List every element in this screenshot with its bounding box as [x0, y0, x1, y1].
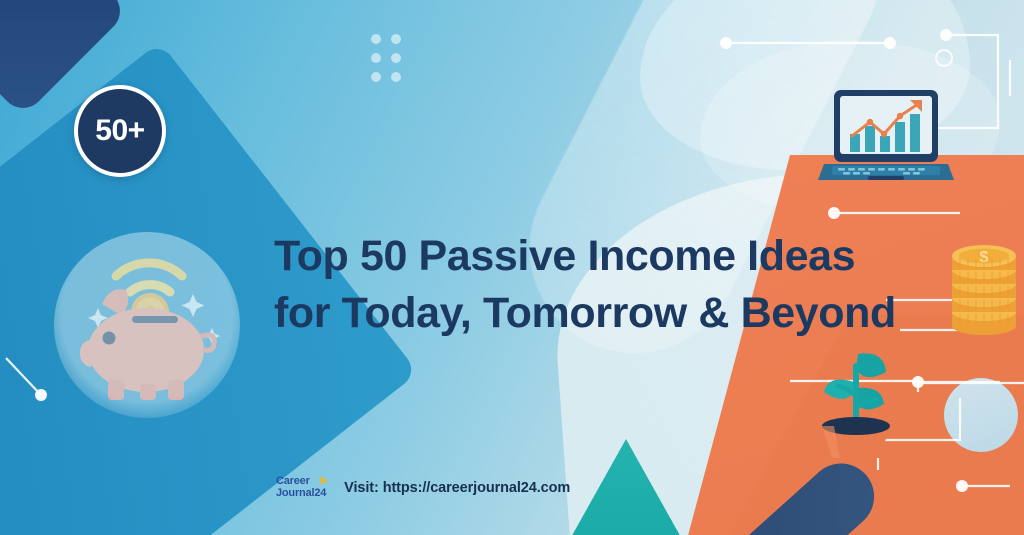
banner-footer: Career Journal24 Visit: https://careerjo…	[276, 476, 570, 499]
logo-line-2: Journal24	[276, 488, 326, 500]
grid-dot	[371, 34, 381, 44]
site-logo[interactable]: Career Journal24	[276, 476, 326, 499]
passive-income-banner: 50+ $	[0, 0, 1024, 535]
coin-stack-icon: $	[948, 234, 1020, 342]
grid-dot	[371, 53, 381, 63]
piggy-halo	[54, 232, 240, 418]
logo-line-1: Career	[276, 476, 326, 488]
piggy-bank-illustration: $	[54, 232, 240, 418]
potted-plant-icon	[800, 338, 912, 462]
grid-dot	[391, 72, 401, 82]
grid-dot	[391, 34, 401, 44]
page-title: Top 50 Passive Income Ideas for Today, T…	[274, 228, 894, 342]
pale-circle-shape	[944, 378, 1018, 452]
grid-dot	[371, 72, 381, 82]
laptop-chart-illustration	[818, 86, 954, 194]
visit-url-text[interactable]: Visit: https://careerjournal24.com	[344, 480, 570, 496]
dot-grid-decoration	[371, 34, 401, 82]
count-badge: 50+	[74, 85, 166, 177]
laptop-chart-icon	[818, 86, 954, 194]
coin-stack-illustration: $	[948, 234, 1020, 342]
headline-line-2: for Today, Tomorrow & Beyond	[274, 285, 894, 342]
potted-plant-illustration	[800, 338, 912, 462]
count-badge-label: 50+	[95, 114, 144, 148]
grid-dot	[391, 53, 401, 63]
headline-line-1: Top 50 Passive Income Ideas	[274, 228, 894, 285]
